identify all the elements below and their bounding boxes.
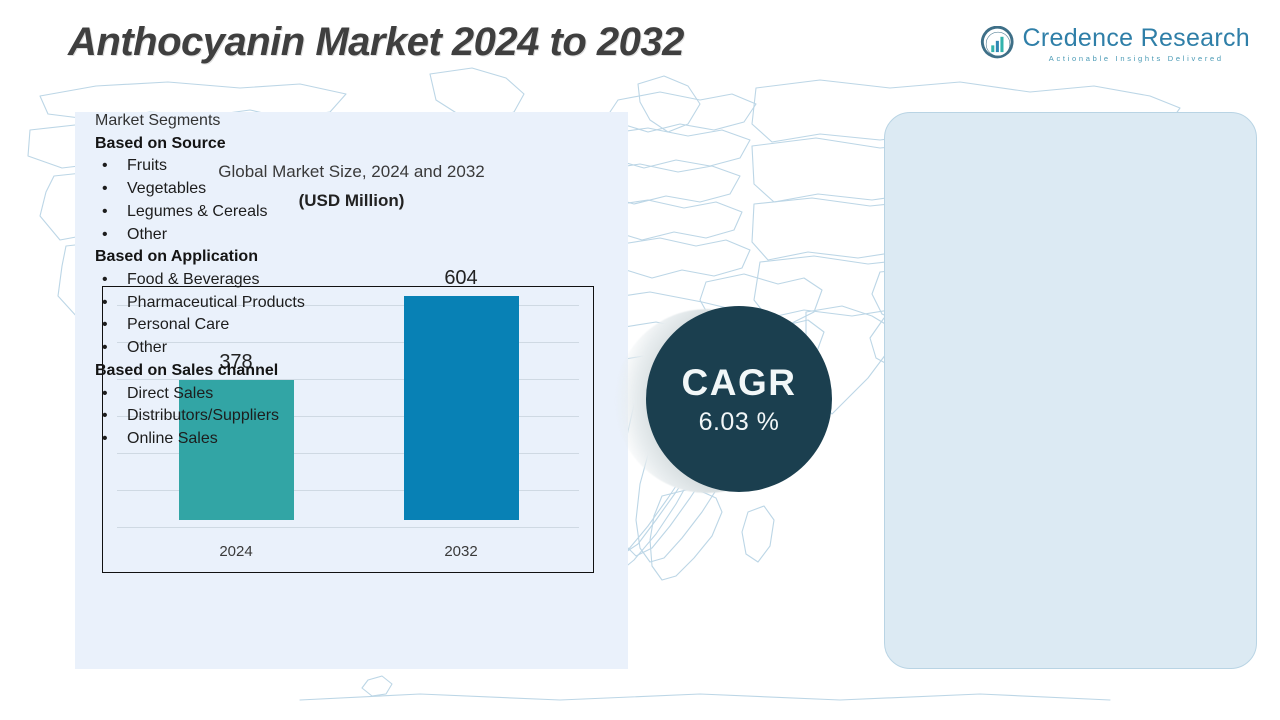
segment-item: •Distributors/Suppliers	[95, 405, 385, 428]
bullet-icon: •	[95, 269, 127, 292]
segment-item: •Food & Beverages	[95, 269, 385, 292]
segment-group-title: Based on Source	[95, 133, 385, 156]
bullet-icon: •	[95, 337, 127, 360]
bullet-icon: •	[95, 383, 127, 406]
header: Anthocyanin Market 2024 to 2032 Credence…	[0, 0, 1280, 92]
cagr-value: 6.03 %	[699, 410, 780, 435]
segment-item-label: Food & Beverages	[127, 269, 260, 292]
logo-tagline: Actionable Insights Delivered	[1023, 55, 1250, 63]
logo-text: Credence Research Actionable Insights De…	[1023, 26, 1250, 63]
bullet-icon: •	[95, 314, 127, 337]
logo-name: Credence Research	[1023, 26, 1250, 51]
chart-bar-2032	[404, 296, 519, 520]
market-segments-panel	[884, 112, 1257, 669]
cagr-label: CAGR	[682, 364, 797, 401]
bullet-icon: •	[95, 201, 127, 224]
bullet-icon: •	[95, 292, 127, 315]
bullet-icon: •	[95, 405, 127, 428]
segment-item: •Other	[95, 224, 385, 247]
page-title: Anthocyanin Market 2024 to 2032	[68, 20, 684, 65]
market-segments-heading: Market Segments	[95, 110, 385, 133]
segment-item: •Legumes & Cereals	[95, 201, 385, 224]
segment-item-label: Other	[127, 224, 167, 247]
segment-item: •Direct Sales	[95, 383, 385, 406]
segment-item-label: Direct Sales	[127, 383, 213, 406]
bar-chart-circle-logo-icon	[980, 26, 1016, 62]
segment-item-label: Pharmaceutical Products	[127, 292, 305, 315]
market-segments-list: Market Segments Based on Source•Fruits•V…	[95, 110, 385, 451]
bullet-icon: •	[95, 224, 127, 247]
segment-item-label: Vegetables	[127, 178, 206, 201]
chart-x-label: 2024	[166, 543, 306, 560]
segment-item-label: Legumes & Cereals	[127, 201, 268, 224]
segment-item: •Vegetables	[95, 178, 385, 201]
bullet-icon: •	[95, 428, 127, 451]
segment-group-title: Based on Sales channel	[95, 360, 385, 383]
cagr-badge: CAGR 6.03 %	[615, 306, 910, 496]
cagr-circle: CAGR 6.03 %	[646, 306, 832, 492]
segment-item: •Pharmaceutical Products	[95, 292, 385, 315]
segment-group-title: Based on Application	[95, 246, 385, 269]
segment-item: •Other	[95, 337, 385, 360]
chart-x-label: 2032	[391, 543, 531, 560]
bullet-icon: •	[95, 155, 127, 178]
segment-item-label: Fruits	[127, 155, 167, 178]
segment-item-label: Distributors/Suppliers	[127, 405, 279, 428]
segment-item: •Personal Care	[95, 314, 385, 337]
segment-item: •Online Sales	[95, 428, 385, 451]
segment-item-label: Online Sales	[127, 428, 218, 451]
chart-value-label: 604	[391, 267, 531, 290]
brand-logo: Credence Research Actionable Insights De…	[980, 26, 1250, 63]
bullet-icon: •	[95, 178, 127, 201]
segment-item: •Fruits	[95, 155, 385, 178]
segment-item-label: Other	[127, 337, 167, 360]
chart-gridline	[117, 527, 579, 528]
segment-item-label: Personal Care	[127, 314, 229, 337]
